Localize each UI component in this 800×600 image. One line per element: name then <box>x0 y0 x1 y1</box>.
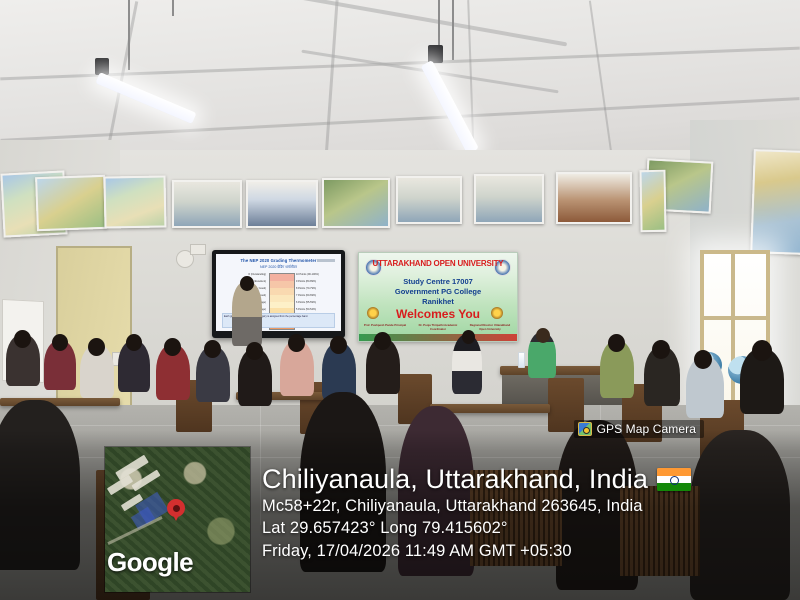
wall-chart-small-left <box>639 170 666 232</box>
map-thumbnail[interactable]: Google <box>105 447 250 592</box>
banner-college: Government PG College <box>359 287 517 296</box>
audience-head <box>126 334 142 351</box>
gps-address: Mc58+22r, Chiliyanaula, Uttarakhand 2636… <box>262 495 792 517</box>
wall-chart-coastal-landforms <box>396 176 462 224</box>
socket-plate <box>190 244 206 255</box>
wall-chart-landforms <box>172 180 242 228</box>
audience-head <box>288 334 305 352</box>
audience-head <box>52 334 68 351</box>
banner-study-centre: Study Centre 17007 <box>359 277 517 286</box>
banner-credit-left: Prof. Pushpesh Pande Principal <box>363 323 407 327</box>
audience-head <box>694 350 712 369</box>
thermometer-right-label: 8 Points (70-79%) <box>296 287 340 290</box>
audience-head <box>652 340 670 359</box>
thermometer-right-label: 5 Points (50-54%) <box>296 308 340 311</box>
gps-place-line: Chiliyanaula, Uttarakhand, India <box>262 464 792 494</box>
thermometer-band <box>270 274 294 281</box>
gps-place-name: Chiliyanaula, Uttarakhand, India <box>262 464 648 494</box>
thermometer-band <box>270 302 294 309</box>
presenter-head <box>240 276 254 291</box>
india-flag-icon <box>657 468 691 491</box>
thermometer-right-label: 6 Points (55-59%) <box>296 301 340 304</box>
wall-chart-india-map <box>750 149 800 255</box>
gps-info-block: Chiliyanaula, Uttarakhand, India Mc58+22… <box>262 464 792 562</box>
audience-head <box>14 330 31 348</box>
gps-map-camera-overlay: GPS Map Camera Google Chiliyanaula, Utta… <box>0 430 800 600</box>
google-watermark: Google <box>107 547 193 578</box>
ceiling <box>0 0 800 168</box>
guest-speaker-left-head <box>462 330 475 344</box>
gps-coordinates: Lat 29.657423° Long 79.415602° <box>262 517 792 539</box>
gps-map-camera-app-icon <box>578 422 592 436</box>
banner-seal-right <box>491 307 503 319</box>
audience-head <box>204 340 221 358</box>
slide-subtitle: NEP 2020 ग्रेडिंग थर्मामीटर <box>216 265 341 270</box>
audience-head <box>246 342 263 360</box>
banner-university-name: UTTARAKHAND OPEN UNIVERSITY <box>359 259 517 268</box>
gps-map-camera-badge-label: GPS Map Camera <box>597 422 696 436</box>
event-banner: UTTARAKHAND OPEN UNIVERSITY Study Centre… <box>358 252 518 342</box>
banner-credit-right: Regional Director Uttarakhand Open Unive… <box>467 323 513 331</box>
presenter <box>232 282 262 346</box>
audience-head <box>330 336 347 354</box>
gps-map-camera-badge: GPS Map Camera <box>574 420 704 438</box>
guest-speaker-right-head <box>536 328 550 343</box>
audience-head <box>608 334 625 352</box>
location-pin-icon <box>167 499 185 517</box>
thermometer-right-label: 7 Points (60-69%) <box>296 294 340 297</box>
thermometer-right-label: 10 Points (90-100%) <box>296 273 340 276</box>
audience-head <box>752 340 772 361</box>
wall-chart-interior-of-earth <box>246 180 318 228</box>
wall-chart-volcano <box>556 172 632 224</box>
wall-chart-europe-map <box>104 175 167 228</box>
thermometer-band <box>270 288 294 295</box>
banner-seal-left <box>367 307 379 319</box>
wall-chart-physical-map <box>35 175 107 231</box>
thermometer-band <box>270 281 294 288</box>
wall-chart-glacier <box>474 174 544 224</box>
audience-head <box>164 338 181 356</box>
gps-map-camera-photo: The NEP 2020 Grading Thermometer NEP 202… <box>0 0 800 600</box>
slide-title: The NEP 2020 Grading Thermometer <box>216 258 341 263</box>
banner-city: Ranikhet <box>359 297 517 306</box>
thermometer-left-label: O (Outstanding) <box>218 273 266 276</box>
banner-credit-mid: Dr. Pooja Thripathi Academic Coordinator <box>415 323 461 331</box>
tube-light-left <box>95 72 196 124</box>
wall-chart-satellite-terrain <box>322 178 390 228</box>
audience-head <box>88 338 105 356</box>
water-bottle-1 <box>518 352 525 368</box>
thermometer-band <box>270 295 294 302</box>
gps-datetime: Friday, 17/04/2026 11:49 AM GMT +05:30 <box>262 540 792 562</box>
thermometer-right-label: 9 Points (80-89%) <box>296 280 340 283</box>
audience-head <box>374 332 391 350</box>
